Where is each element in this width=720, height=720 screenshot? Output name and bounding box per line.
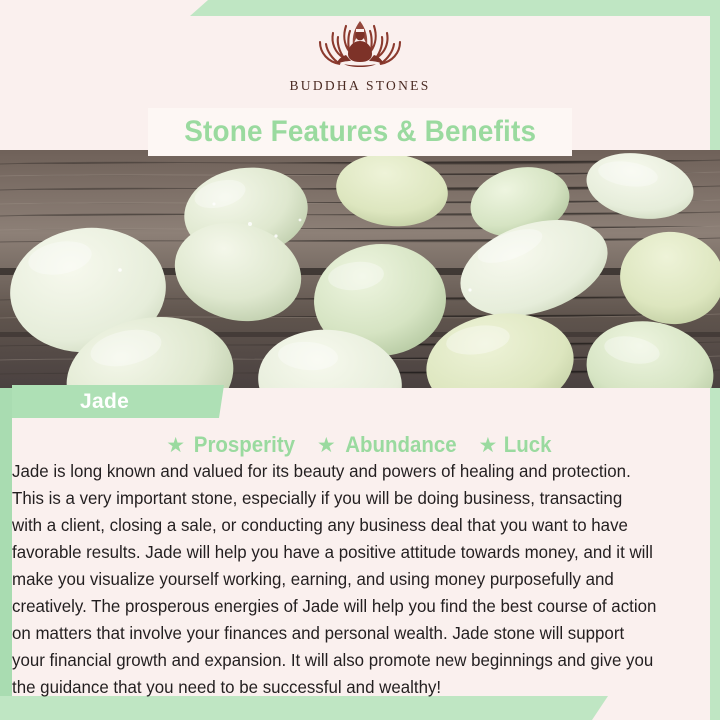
benefit-item-luck: ★ Luck	[479, 432, 554, 458]
benefits-list: ★ Prosperity ★ Abundance ★ Luck	[0, 430, 720, 460]
description-line: the guidance that you need to be success…	[12, 674, 682, 701]
title-banner: Stone Features & Benefits	[148, 108, 572, 156]
stone-name-label: Jade	[12, 385, 224, 418]
description-line: This is a very important stone, especial…	[12, 485, 682, 512]
star-icon: ★	[317, 435, 336, 456]
description-line: on matters that involve your finances an…	[12, 620, 682, 647]
star-icon: ★	[479, 435, 498, 456]
lotus-meditation-icon	[306, 14, 414, 76]
jade-tumbled-stones-photo	[0, 150, 720, 388]
stone-features-infographic: { "brand": { "logo_icon": "lotus-meditat…	[0, 0, 720, 720]
description-line: with a client, closing a sale, or conduc…	[12, 512, 682, 539]
description-line: your financial growth and expansion. It …	[12, 647, 682, 674]
benefit-label: Prosperity	[194, 432, 295, 458]
star-icon: ★	[166, 435, 185, 456]
stone-name: Jade	[80, 390, 129, 414]
description-line: make you visualize yourself working, ear…	[12, 566, 682, 593]
benefit-item-prosperity: ★ Prosperity	[166, 432, 299, 458]
benefit-label: Abundance	[345, 432, 456, 458]
description-line: Jade is long known and valued for its be…	[12, 458, 682, 485]
brand-name: BUDDHA STONES	[289, 78, 430, 94]
brand-logo: BUDDHA STONES	[0, 14, 720, 106]
page-title: Stone Features & Benefits	[184, 115, 536, 149]
description-line: favorable results. Jade will help you ha…	[12, 539, 682, 566]
description-line: creatively. The prosperous energies of J…	[12, 593, 682, 620]
benefit-item-abundance: ★ Abundance	[317, 432, 461, 458]
benefit-label: Luck	[504, 432, 552, 458]
stone-description: Jade is long known and valued for its be…	[12, 458, 710, 701]
